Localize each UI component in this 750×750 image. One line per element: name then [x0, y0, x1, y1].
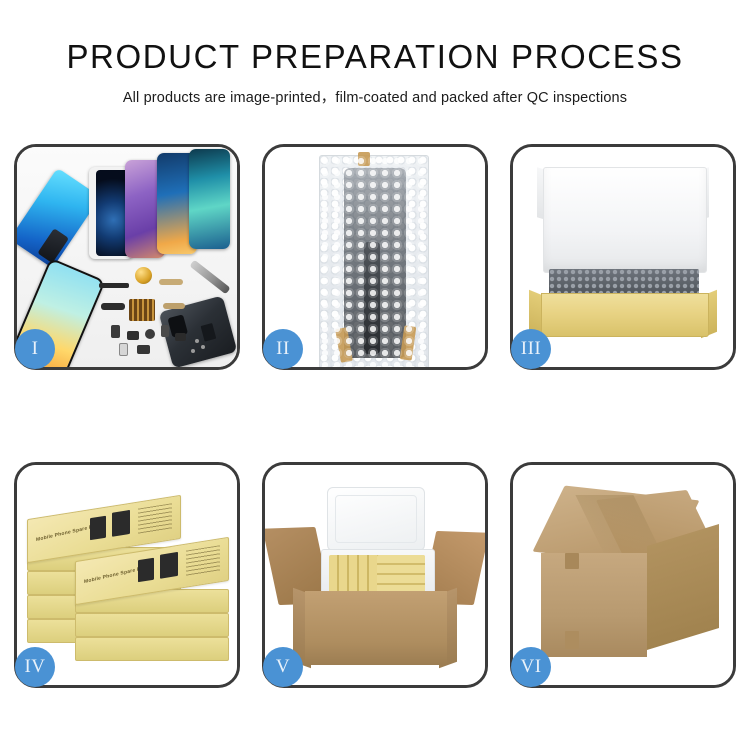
page-header: PRODUCT PREPARATION PROCESS All products… [0, 0, 750, 107]
spare-parts-cluster [103, 273, 219, 365]
tape-strip-1 [358, 152, 370, 166]
chip-part-icon-1 [111, 325, 120, 338]
connector-grid-part-icon [129, 299, 155, 321]
sim-tray-part-icon [119, 343, 128, 356]
page-title: PRODUCT PREPARATION PROCESS [0, 0, 750, 75]
step-badge-1: I [15, 329, 55, 369]
phone-parts-image [17, 147, 237, 367]
flex-cable-part-icon [101, 303, 125, 310]
speaker-part-icon [135, 267, 152, 284]
box-spec-lines-front [186, 545, 220, 576]
sealed-carton-image [513, 465, 733, 685]
inner-box-image [513, 147, 733, 367]
carton-tape-upper [565, 553, 579, 569]
chip-part-icon-5 [175, 333, 186, 341]
retail-box-stack: Mobile Phone Spare Parts Mobile Phone Sp… [25, 485, 233, 675]
step-badge-6: VI [511, 647, 551, 687]
process-step-panel-2[interactable]: II [262, 144, 488, 370]
box-art-thumb-b2 [160, 552, 178, 579]
step-badge-5: V [263, 647, 303, 687]
chip-part-icon-3 [145, 329, 155, 339]
foam-box-lid [327, 487, 425, 551]
flex-cable-part-icon-2 [163, 303, 185, 309]
flex-cable-part-icon-3 [159, 279, 183, 285]
process-step-panel-5[interactable]: V [262, 462, 488, 688]
box-spec-lines-rear [138, 503, 172, 534]
box-art-thumb-b1 [138, 558, 154, 583]
process-step-panel-6[interactable]: VI [510, 462, 736, 688]
carton-side-face [647, 524, 719, 650]
carton-front-face [541, 553, 647, 657]
bubble-wrap-bag [319, 155, 429, 367]
process-step-panel-4[interactable]: Mobile Phone Spare Parts Mobile Phone Sp… [14, 462, 240, 688]
process-step-panel-1[interactable]: I [14, 144, 240, 370]
stacked-box-slab-7 [75, 637, 229, 661]
process-step-panel-3[interactable]: III [510, 144, 736, 370]
camera-module-part-icon [137, 345, 150, 354]
box-art-thumb-a1 [90, 516, 106, 541]
white-box-lid [543, 167, 707, 273]
foam-carton-image [265, 465, 485, 685]
stacked-box-slab-6 [75, 613, 229, 637]
screws-icon [195, 339, 199, 343]
step-badge-3: III [511, 329, 551, 369]
step-badge-4: IV [15, 647, 55, 687]
wrapped-cable [364, 242, 380, 354]
chip-part-icon-2 [127, 331, 139, 340]
ribbon-strip-part-icon [99, 283, 129, 288]
chip-part-icon-4 [161, 325, 169, 337]
yellow-box-tray [541, 293, 709, 337]
box-art-thumb-a2 [112, 510, 130, 537]
carton-body-front [305, 591, 447, 665]
carton-tape-lower [565, 631, 579, 649]
boxed-stack-image: Mobile Phone Spare Parts Mobile Phone Sp… [17, 465, 237, 685]
bubble-wrap-image [265, 147, 485, 367]
page-subtitle: All products are image-printed，film-coat… [0, 75, 750, 107]
teal-phone-icon [189, 149, 230, 249]
step-badge-2: II [263, 329, 303, 369]
process-steps-grid: I II III [14, 144, 736, 696]
